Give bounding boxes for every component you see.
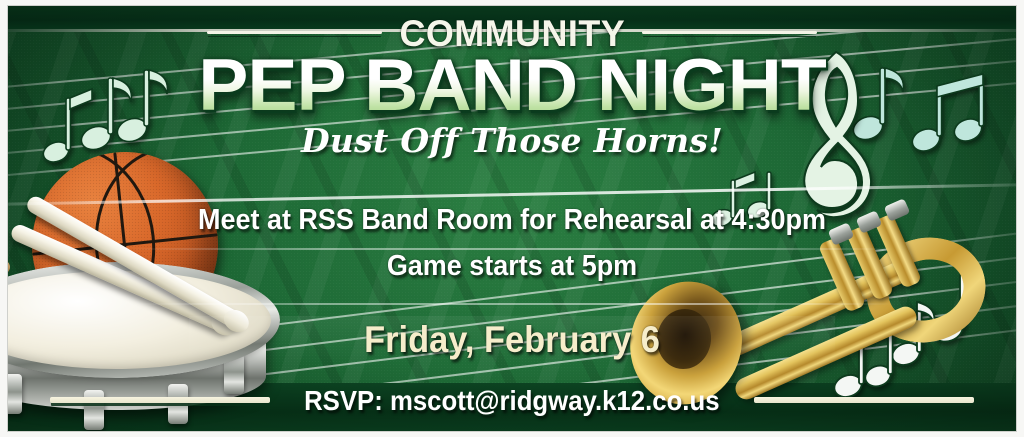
kicker-rule-left [207,30,382,38]
headline-block: COMMUNITY PEP BAND NIGHT Dust Off Those … [8,12,1016,160]
rsvp-row: RSVP: mscott@ridgway.k12.co.us [8,381,1016,421]
rsvp-rule-left [50,397,270,406]
pep-band-night-flyer: COMMUNITY PEP BAND NIGHT Dust Off Those … [0,0,1024,437]
subtitle-text: Dust Off Those Horns! [8,121,1016,160]
flyer-frame: COMMUNITY PEP BAND NIGHT Dust Off Those … [8,6,1016,431]
rsvp-rule-right [754,397,974,406]
event-date: Friday, February 6 [364,319,660,361]
date-band: Friday, February 6 [8,316,1016,364]
detail-line-1: Meet at RSS Band Room for Rehearsal at 4… [43,202,980,238]
header-sweep-divider [8,187,1016,203]
detail-divider-2 [129,303,895,305]
detail-block: Meet at RSS Band Room for Rehearsal at 4… [8,202,1016,284]
rsvp-text[interactable]: RSVP: mscott@ridgway.k12.co.us [304,385,719,417]
page-title: PEP BAND NIGHT [8,52,1016,119]
detail-line-2: Game starts at 5pm [43,248,980,284]
kicker-rule-right [642,30,817,38]
